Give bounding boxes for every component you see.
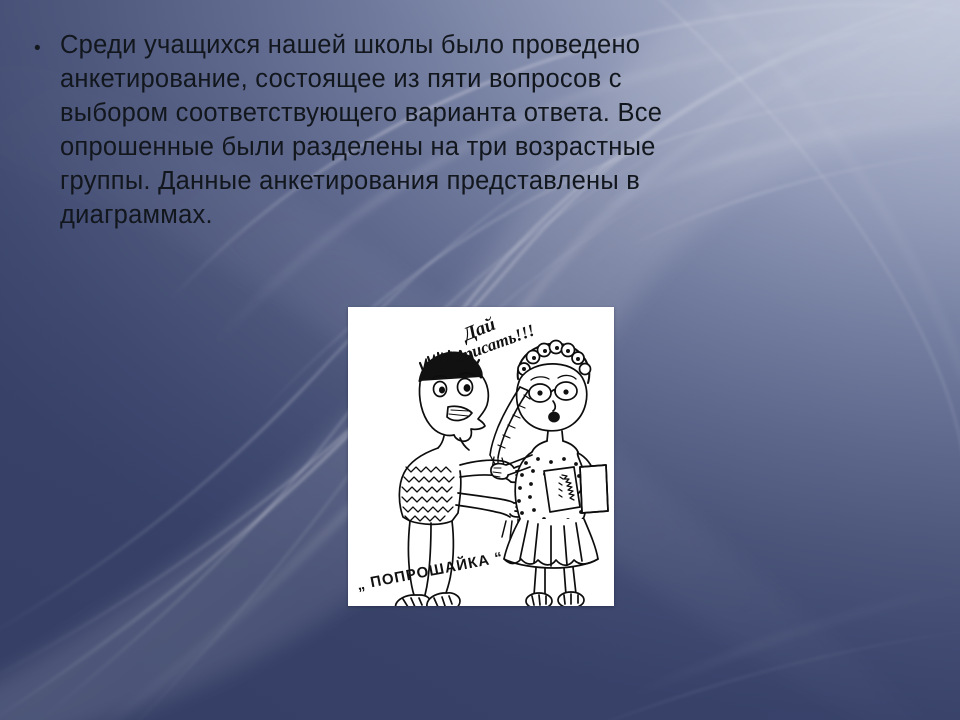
bullet-paragraph-text: Среди учащихся нашей школы было проведен… [60,28,734,232]
slide-canvas: • Среди учащихся нашей школы было провед… [0,0,960,720]
boy-shirt [399,448,460,524]
content-placeholder[interactable]: • Среди учащихся нашей школы было провед… [34,28,734,232]
cartoon-drawing: Дай списать!!! „ ПОПРОШАЙКА “ [348,307,614,606]
boy-shirt-stripes [402,467,454,521]
bullet-list-item[interactable]: • Среди учащихся нашей школы было провед… [34,28,734,232]
girl-notebook [544,467,580,512]
speech-text-give-me-to-copy: Дай списать!!! [453,314,537,367]
bullet-marker-icon: • [34,28,60,58]
girl-leg-left [534,568,545,595]
girl-leg-right [564,567,576,595]
boy-lower-arm [458,493,514,503]
cartoon-picture[interactable]: Дай списать!!! „ ПОПРОШАЙКА “ [348,307,614,606]
